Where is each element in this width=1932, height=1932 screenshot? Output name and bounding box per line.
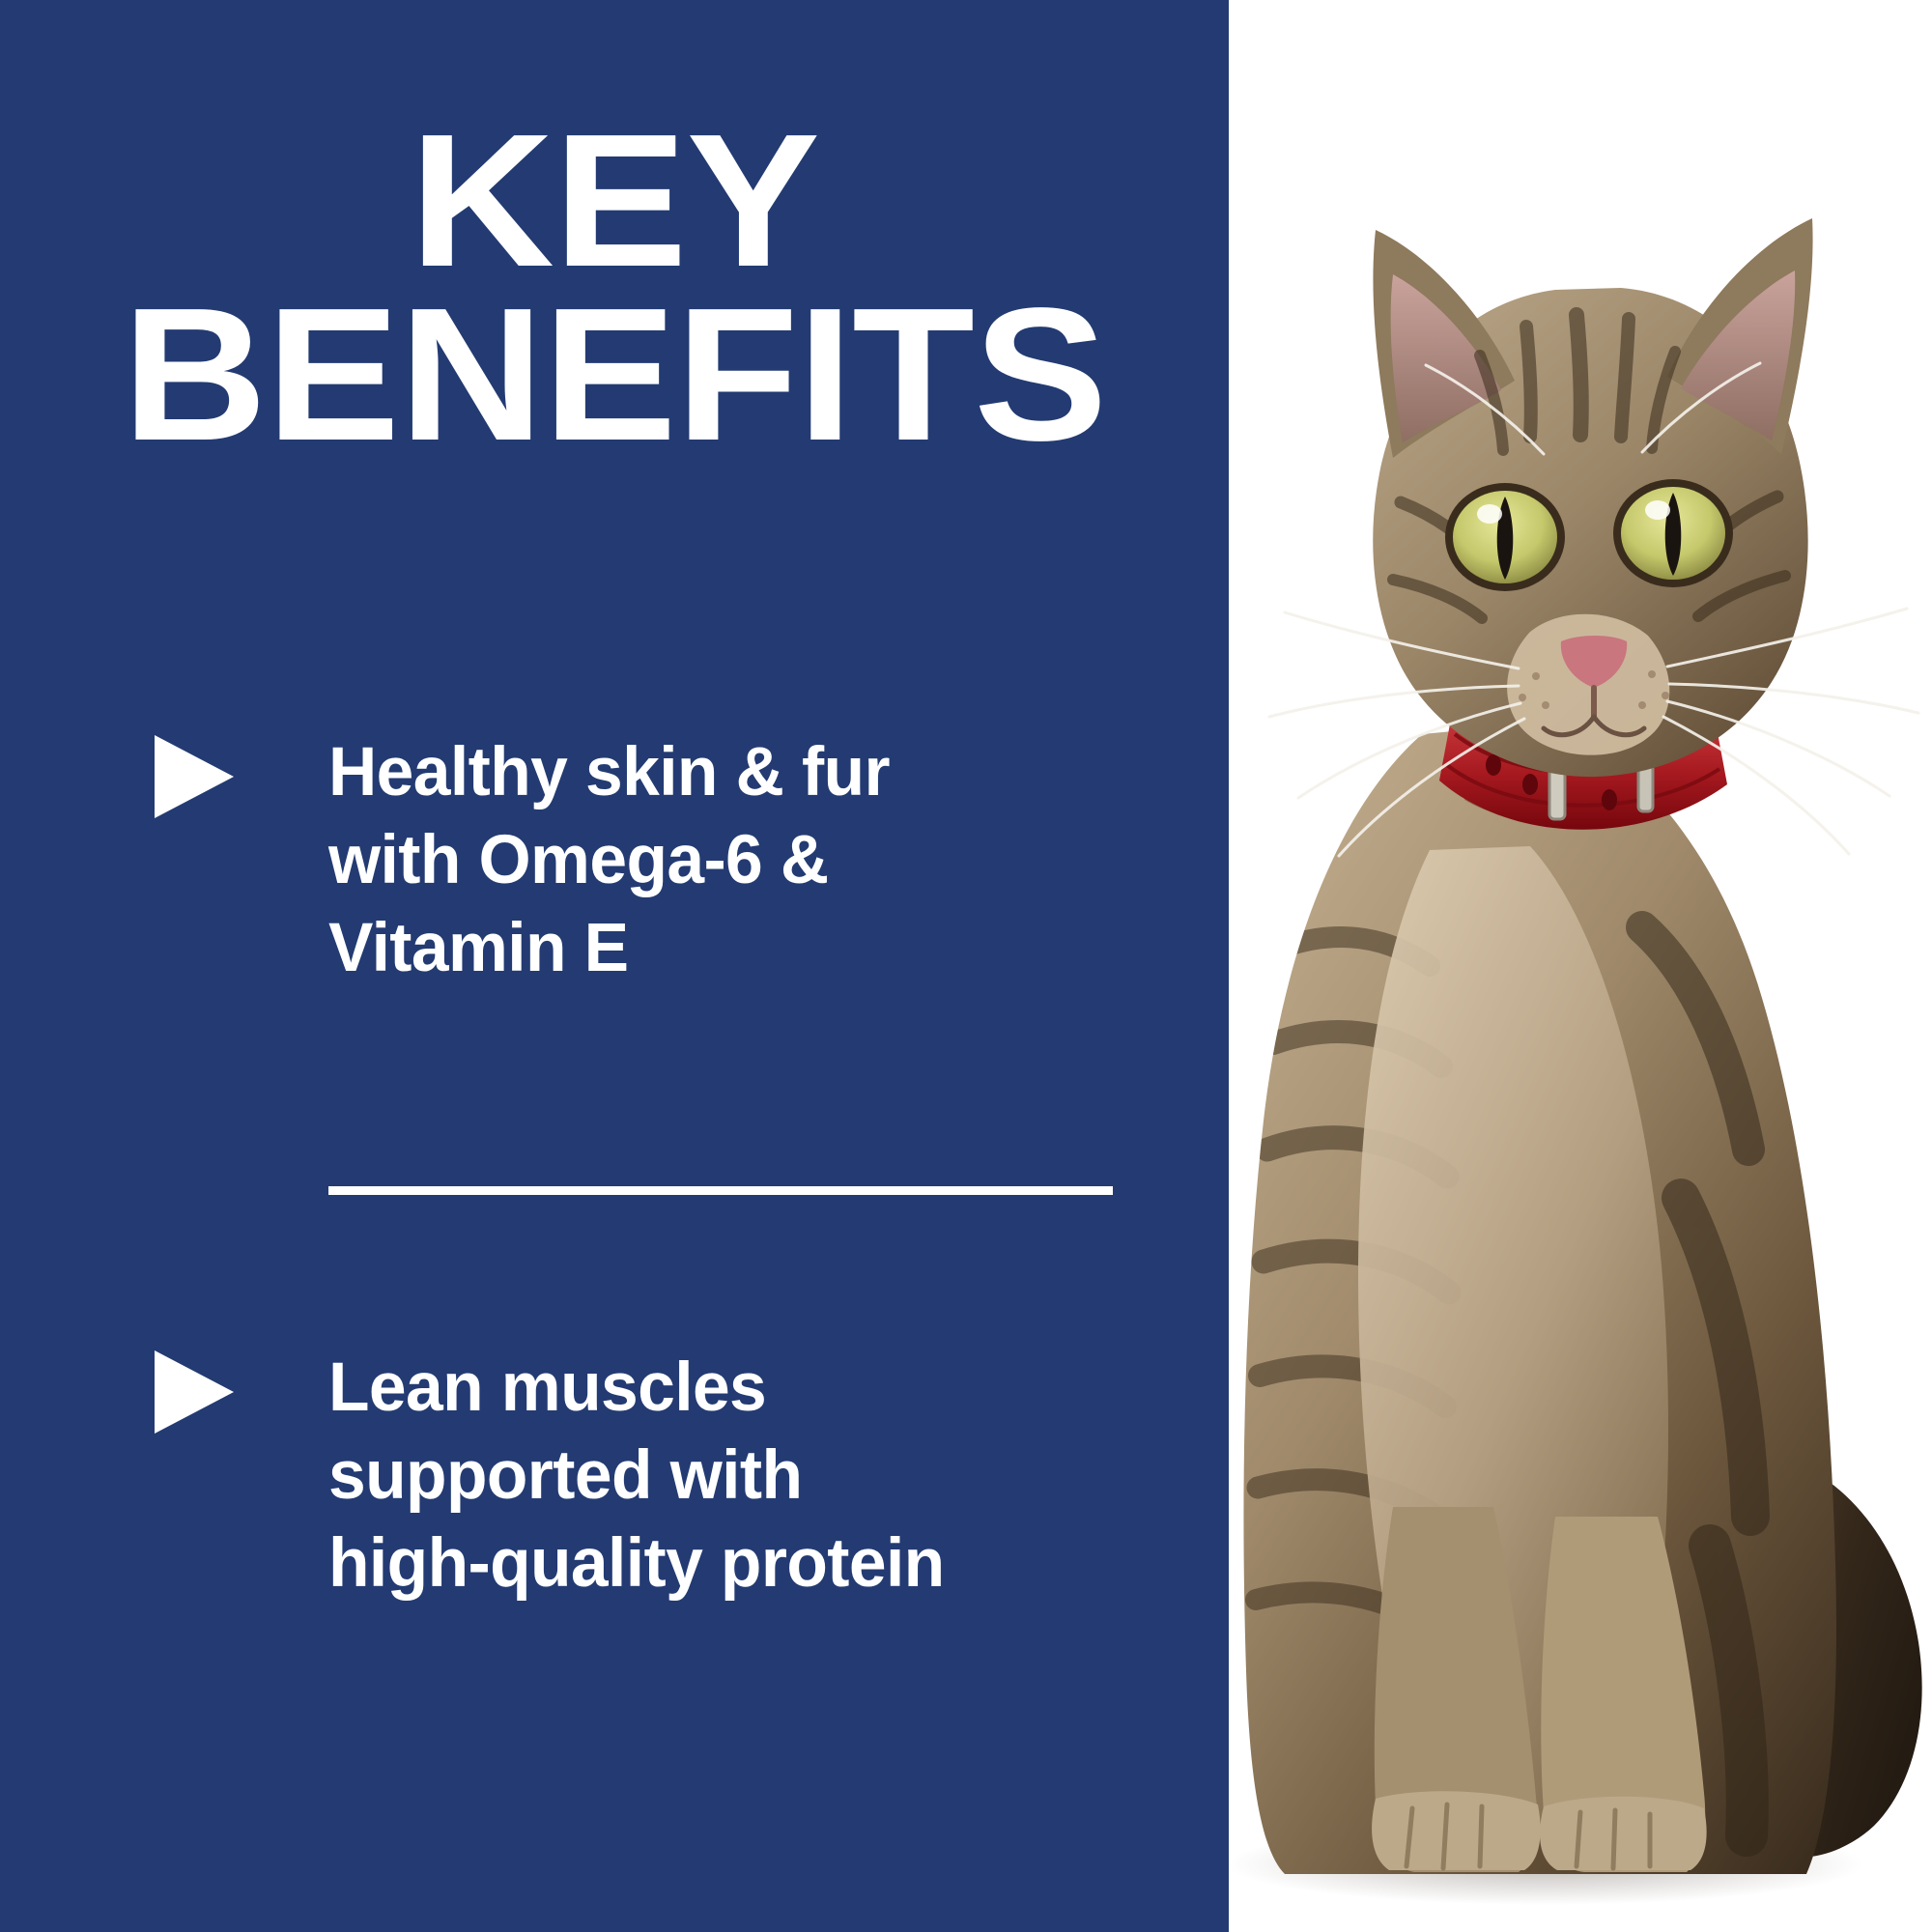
benefit-item-2-line-1: Lean muscles xyxy=(328,1345,1107,1433)
benefit-item-2-inner: Lean muscles supported with high-quality… xyxy=(155,1345,1122,1608)
benefit-item-1: Healthy skin & fur with Omega-6 & Vitami… xyxy=(0,729,1229,993)
page-title-line-1: KEY xyxy=(0,114,1265,288)
triangle-right-icon xyxy=(155,735,234,818)
benefit-item-2: Lean muscles supported with high-quality… xyxy=(0,1345,1229,1608)
benefit-item-2-text: Lean muscles supported with high-quality… xyxy=(328,1345,1107,1608)
benefits-divider xyxy=(328,1186,1113,1195)
benefit-item-1-line-3: Vitamin E xyxy=(328,905,1107,993)
benefit-item-1-line-2: with Omega-6 & xyxy=(328,817,1107,905)
benefit-item-1-inner: Healthy skin & fur with Omega-6 & Vitami… xyxy=(155,729,1122,993)
page-title-line-2: BENEFITS xyxy=(0,288,1265,462)
benefit-item-2-line-2: supported with xyxy=(328,1433,1107,1520)
benefit-item-1-line-1: Healthy skin & fur xyxy=(328,729,1107,817)
benefit-item-1-text: Healthy skin & fur with Omega-6 & Vitami… xyxy=(328,729,1107,993)
cat-illustration xyxy=(1140,0,1932,1932)
cat-photo xyxy=(1140,0,1932,1932)
benefit-item-2-line-3: high-quality protein xyxy=(328,1520,1107,1608)
page-title: KEY BENEFITS xyxy=(0,114,1265,463)
promo-canvas: KEY BENEFITS Healthy skin & fur with Ome… xyxy=(0,0,1932,1932)
triangle-right-icon xyxy=(155,1350,234,1434)
